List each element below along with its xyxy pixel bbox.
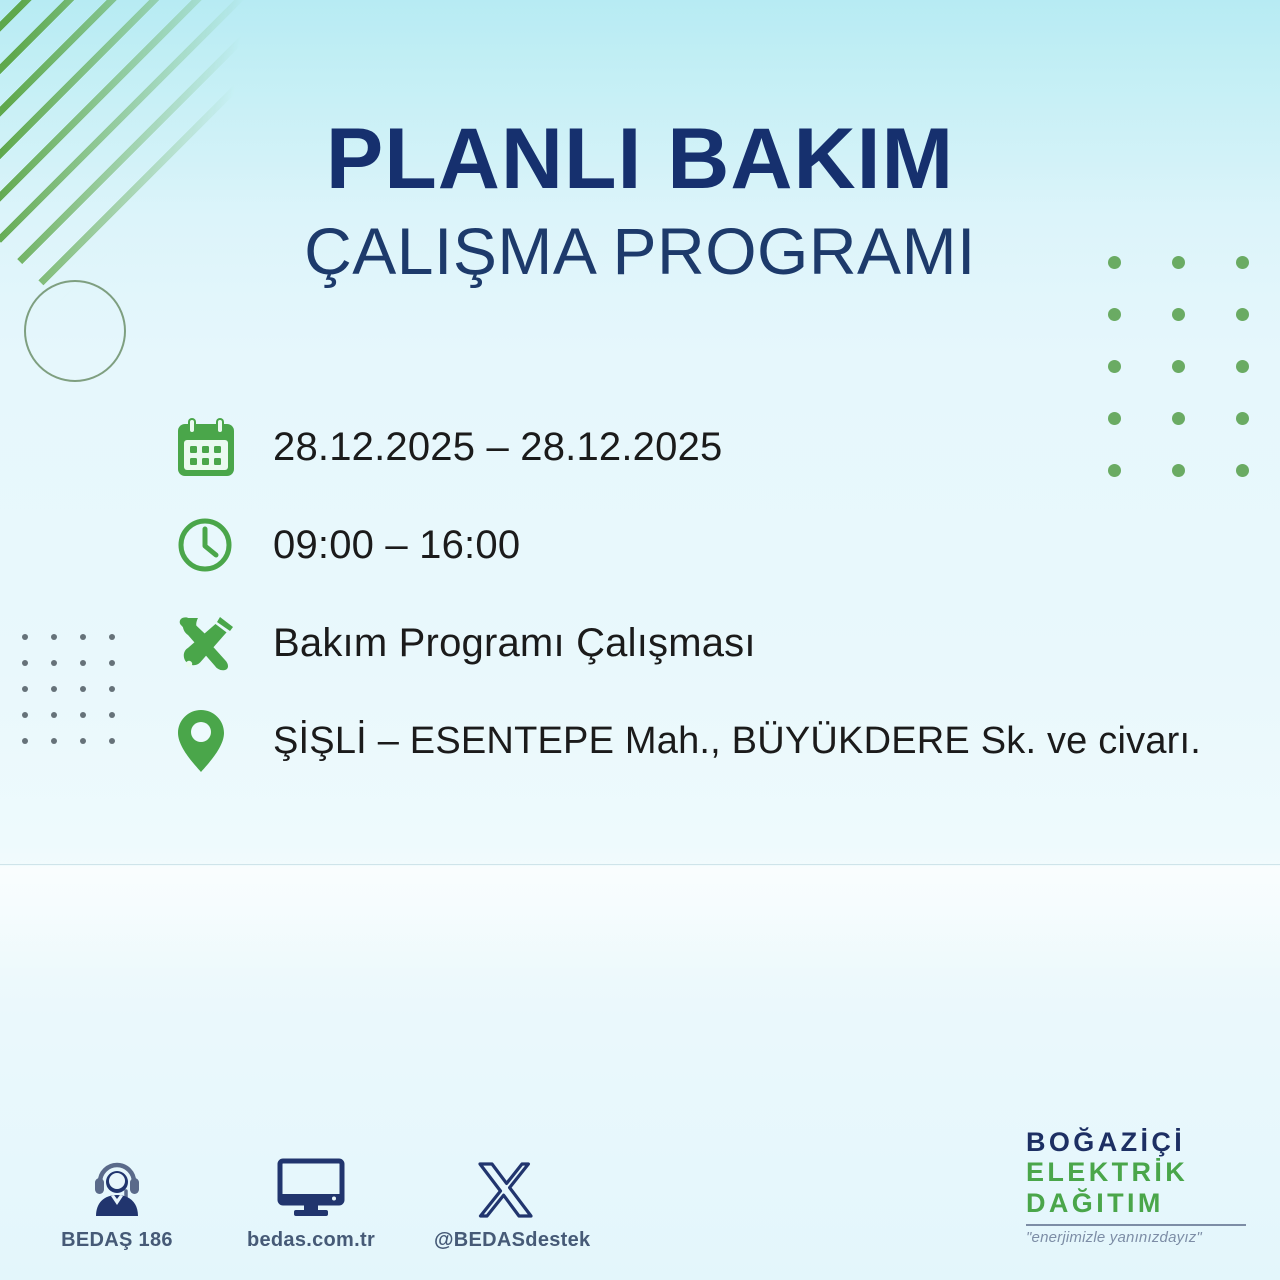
location-pin-icon [176, 705, 242, 777]
detail-row-location: ŞİŞLİ – ESENTEPE Mah., BÜYÜKDERE Sk. ve … [176, 692, 1236, 790]
logo-tagline: "enerjimizle yanınızdayız" [1026, 1229, 1246, 1246]
circle-outline-decoration [24, 280, 126, 382]
logo-line-bogazici: BOĞAZİÇİ [1026, 1127, 1246, 1158]
detail-row-work-type: Bakım Programı Çalışması [176, 594, 1236, 692]
contact-phone-label: BEDAŞ 186 [46, 1229, 188, 1252]
detail-row-time-text: 09:00 – 16:00 [273, 523, 520, 568]
contact-channels: BEDAŞ 186 bedas.com.tr [46, 1152, 576, 1252]
clock-icon [176, 509, 242, 581]
contact-website[interactable]: bedas.com.tr [240, 1152, 382, 1252]
logo-line-dagitim: DAĞITIM [1026, 1188, 1246, 1219]
contact-phone[interactable]: BEDAŞ 186 [46, 1152, 188, 1252]
company-logo: BOĞAZİÇİ ELEKTRİK DAĞITIM "enerjimizle y… [1026, 1127, 1246, 1246]
contact-x-label: @BEDASdestek [434, 1229, 576, 1252]
contact-website-label: bedas.com.tr [240, 1229, 382, 1252]
calendar-icon [176, 411, 242, 483]
detail-row-date: 28.12.2025 – 28.12.2025 [176, 398, 1236, 496]
detail-row-work-type-text: Bakım Programı Çalışması [273, 621, 756, 666]
dot-grid-left-decoration [22, 634, 138, 764]
monitor-icon [240, 1152, 382, 1220]
section-divider [0, 864, 1280, 865]
detail-row-time: 09:00 – 16:00 [176, 496, 1236, 594]
x-twitter-icon [434, 1152, 576, 1220]
detail-row-date-text: 28.12.2025 – 28.12.2025 [273, 425, 722, 470]
section-glow-decoration [0, 866, 1280, 986]
logo-line-elektrik: ELEKTRİK [1026, 1157, 1246, 1188]
detail-row-location-text: ŞİŞLİ – ESENTEPE Mah., BÜYÜKDERE Sk. ve … [273, 720, 1201, 763]
page-title: PLANLI BAKIM [0, 118, 1280, 201]
page-subtitle: ÇALIŞMA PROGRAMI [0, 217, 1280, 286]
page-header: PLANLI BAKIM ÇALIŞMA PROGRAMI [0, 118, 1280, 286]
contact-x[interactable]: @BEDASdestek [434, 1152, 576, 1252]
outage-details-list: 28.12.2025 – 28.12.2025 09:00 – 16:00 [176, 398, 1236, 790]
support-agent-icon [46, 1152, 188, 1220]
poster-canvas: PLANLI BAKIM ÇALIŞMA PROGRAMI [0, 0, 1280, 1280]
tools-icon [176, 607, 242, 679]
logo-divider [1026, 1224, 1246, 1226]
page-footer: BEDAŞ 186 bedas.com.tr [0, 1124, 1280, 1254]
